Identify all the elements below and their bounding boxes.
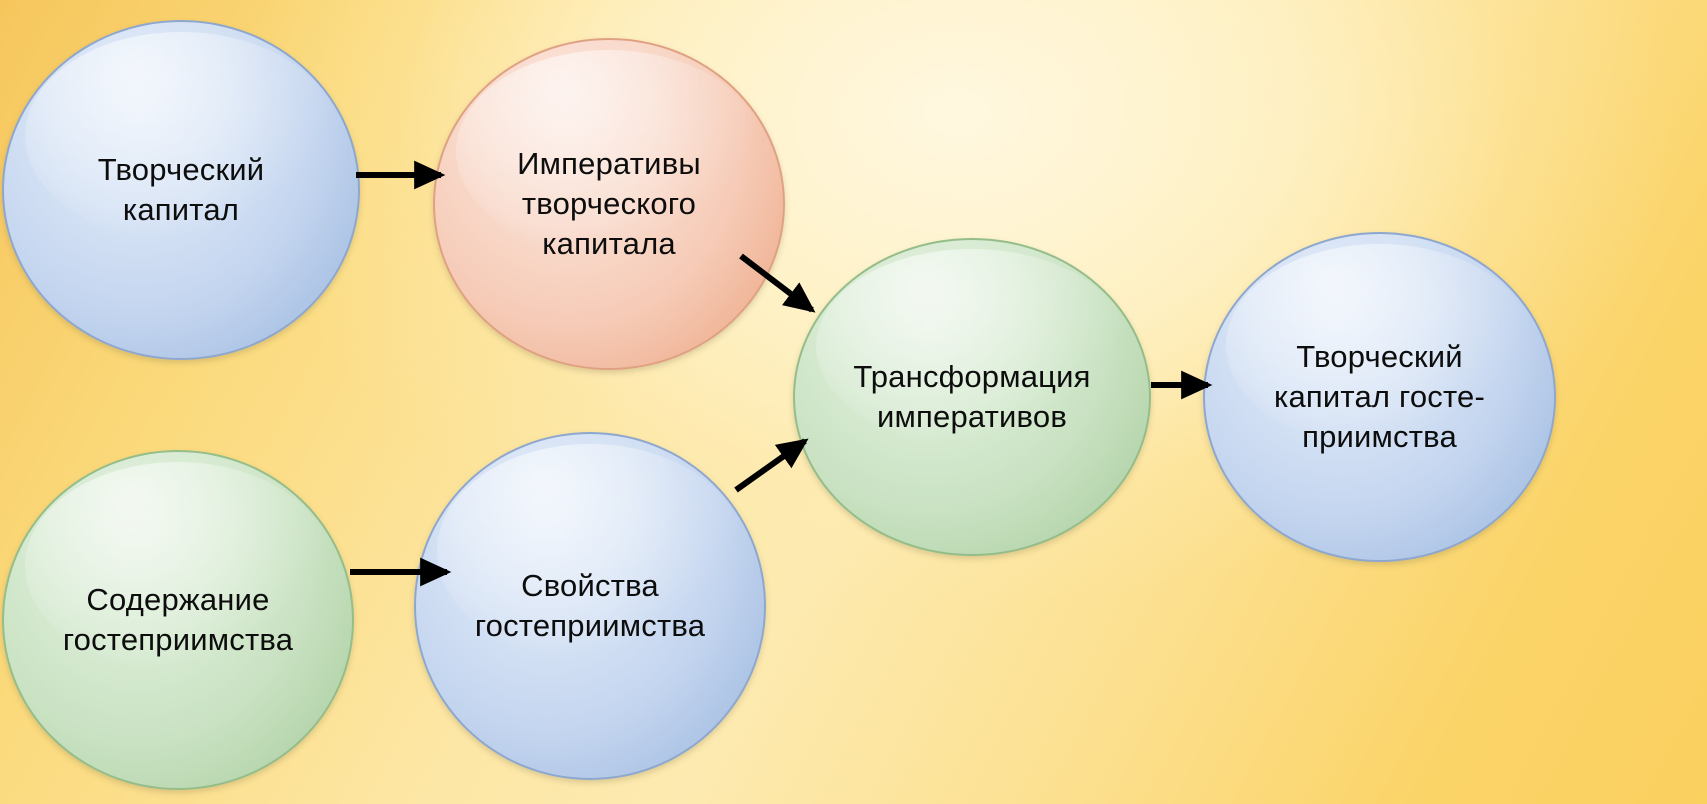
node-label: Императивы творческого капитала <box>511 144 707 265</box>
node-label: Трансформация императивов <box>847 357 1096 438</box>
node-hospitality-creative-capital[interactable]: Творческий капитал госте- приимства <box>1203 232 1556 562</box>
diagram-canvas: Творческий капитал Императивы творческог… <box>0 0 1707 804</box>
node-label: Творческий капитал госте- приимства <box>1268 337 1491 458</box>
node-label: Содержание гостеприимства <box>57 580 299 661</box>
node-creative-capital[interactable]: Творческий капитал <box>2 20 360 360</box>
arrow-properties-to-transformation <box>736 441 805 490</box>
node-label: Свойства гостеприимства <box>469 566 711 647</box>
node-label: Творческий капитал <box>92 150 271 231</box>
node-transformation-of-imperatives[interactable]: Трансформация императивов <box>793 238 1151 556</box>
node-hospitality-properties[interactable]: Свойства гостеприимства <box>414 432 766 780</box>
node-creative-capital-imperatives[interactable]: Императивы творческого капитала <box>433 38 785 370</box>
node-hospitality-content[interactable]: Содержание гостеприимства <box>2 450 354 790</box>
